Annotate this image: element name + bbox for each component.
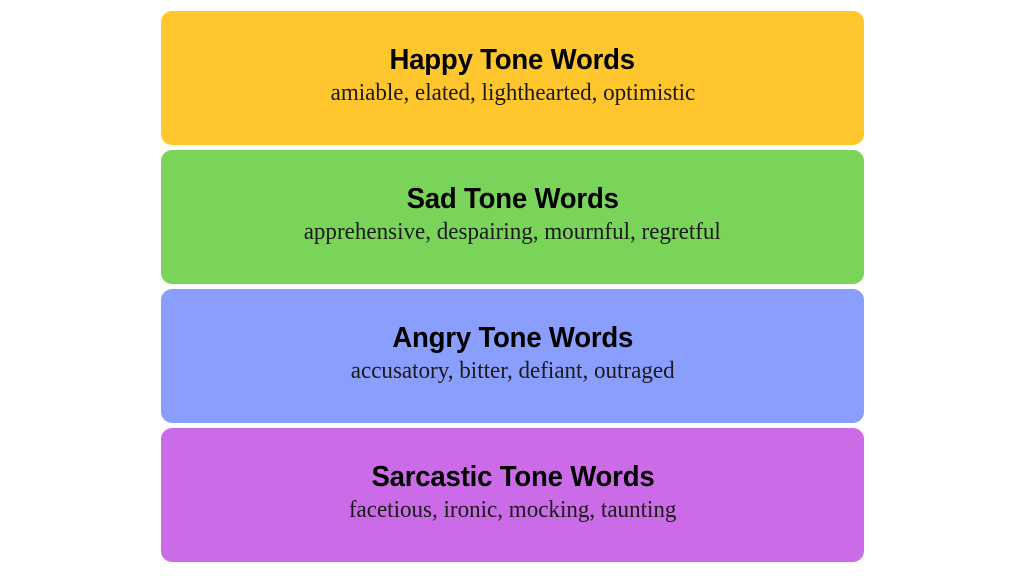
tone-card-title: Happy Tone Words [390, 44, 635, 76]
tone-card-words: facetious, ironic, mocking, taunting [349, 496, 677, 525]
tone-card-words: amiable, elated, lighthearted, optimisti… [330, 79, 695, 108]
tone-card-sad: Sad Tone Words apprehensive, despairing,… [161, 150, 864, 284]
tone-card-happy: Happy Tone Words amiable, elated, lighth… [161, 11, 864, 145]
tone-card-title: Sad Tone Words [406, 183, 618, 215]
tone-words-chart: Happy Tone Words amiable, elated, lighth… [0, 0, 1024, 576]
tone-card-words: apprehensive, despairing, mournful, regr… [304, 218, 721, 247]
tone-card-sarcastic: Sarcastic Tone Words facetious, ironic, … [161, 428, 864, 562]
tone-card-title: Angry Tone Words [392, 322, 633, 354]
tone-card-angry: Angry Tone Words accusatory, bitter, def… [161, 289, 864, 423]
tone-card-words: accusatory, bitter, defiant, outraged [351, 357, 675, 386]
tone-card-title: Sarcastic Tone Words [371, 461, 654, 493]
